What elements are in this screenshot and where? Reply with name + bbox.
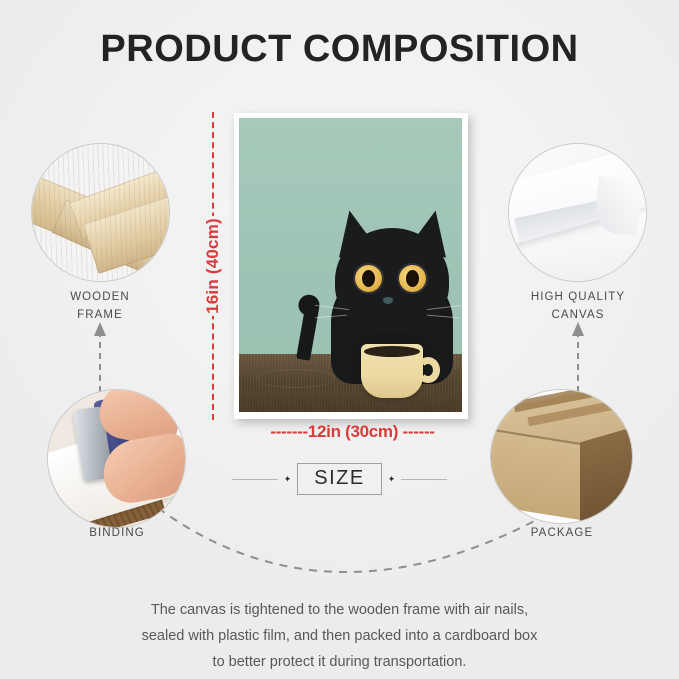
size-label: SIZE [297,463,381,495]
badge-rule-right [401,479,447,480]
package-photo [490,389,633,524]
feature-label-binding: BINDING [57,525,177,543]
product-composition-poster: PRODUCT COMPOSITION [0,0,679,679]
badge-rule-left [232,479,278,480]
coffee-surface [364,346,420,357]
high-quality-canvas-photo [508,143,647,282]
footer-line-3: to better protect it during transportati… [0,650,679,676]
cat-eye-left [355,265,382,292]
coffee-cup [361,344,423,398]
page-title: PRODUCT COMPOSITION [0,28,679,71]
wooden-frame-photo [31,143,170,282]
cat-head [335,228,449,332]
star-icon: ✦ [284,475,292,484]
artwork-scene [239,118,462,412]
binding-photo [47,389,186,528]
star-icon: ✦ [388,475,396,484]
height-dimension-label: 16in (40cm) [200,216,226,316]
feature-label-wooden-frame: WOODEN FRAME [20,289,180,325]
footer-description: The canvas is tightened to the wooden fr… [0,598,679,675]
footer-line-1: The canvas is tightened to the wooden fr… [0,598,679,624]
canvas-artwork [234,113,468,419]
height-dimension: 16in (40cm) [196,112,230,420]
feature-label-package: PACKAGE [502,525,622,543]
cup-handle [416,357,440,383]
width-dimension-label: -------12in (30cm) ------ [225,422,480,442]
cat-tail [296,301,320,361]
cat-eye-right [399,265,426,292]
footer-line-2: sealed with plastic film, and then packe… [0,624,679,650]
cat-nose [383,297,393,304]
feature-label-high-quality-canvas: HIGH QUALITY CANVAS [498,289,658,325]
